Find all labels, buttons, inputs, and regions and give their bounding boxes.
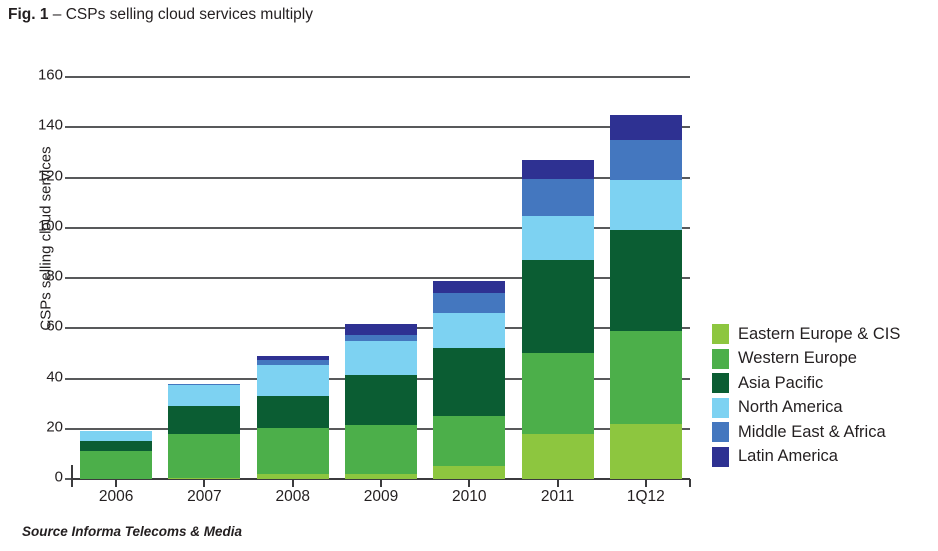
y-tick-label-100: 100 — [38, 217, 63, 234]
y-tick-label-140: 140 — [38, 117, 63, 134]
bar-segment[interactable] — [168, 385, 240, 406]
y-tick-mark-120 — [65, 177, 72, 179]
y-tick-mark-60 — [65, 327, 72, 329]
bar-segment[interactable] — [345, 335, 417, 341]
bar-segment[interactable] — [257, 360, 329, 365]
bar-group-2006[interactable] — [80, 77, 152, 479]
bar-segment[interactable] — [522, 260, 594, 353]
bar-segment[interactable] — [522, 434, 594, 479]
legend-label: Eastern Europe & CIS — [738, 325, 900, 344]
figure-number: Fig. 1 — [8, 6, 48, 23]
legend-swatch-icon — [712, 373, 729, 393]
bar-segment[interactable] — [345, 425, 417, 474]
y-tick-mark-140 — [65, 126, 72, 128]
bar-segment[interactable] — [433, 348, 505, 416]
y-tick-label-20: 20 — [46, 418, 63, 435]
legend-swatch-icon — [712, 349, 729, 369]
axis-origin-tick — [71, 465, 73, 479]
x-tick-label-2008: 2008 — [249, 488, 337, 506]
bar-segment[interactable] — [80, 441, 152, 451]
bar-segment[interactable] — [433, 281, 505, 294]
x-tick-mark-2008 — [292, 479, 294, 487]
x-axis-end-tick-0 — [71, 479, 73, 487]
legend-item-1[interactable]: Western Europe — [712, 347, 938, 372]
bar-segment[interactable] — [345, 375, 417, 425]
bar-segment[interactable] — [433, 466, 505, 479]
bar-segment[interactable] — [610, 424, 682, 479]
x-tick-label-1Q12: 1Q12 — [602, 488, 690, 506]
figure-title-dash: – — [48, 6, 65, 23]
x-tick-mark-2009 — [380, 479, 382, 487]
bar-segment[interactable] — [522, 179, 594, 217]
x-tick-mark-2010 — [468, 479, 470, 487]
bar-series-layer — [72, 77, 690, 479]
x-tick-mark-2011 — [557, 479, 559, 487]
bar-group-2007[interactable] — [168, 77, 240, 479]
chart-legend: Eastern Europe & CISWestern EuropeAsia P… — [712, 322, 938, 469]
bar-segment[interactable] — [80, 451, 152, 479]
bar-segment[interactable] — [522, 216, 594, 260]
legend-item-2[interactable]: Asia Pacific — [712, 371, 938, 396]
figure-title-text: CSPs selling cloud services multiply — [66, 6, 313, 23]
bar-group-2011[interactable] — [522, 77, 594, 479]
legend-swatch-icon — [712, 324, 729, 344]
bar-segment[interactable] — [257, 428, 329, 474]
y-tick-mark-20 — [65, 428, 72, 430]
y-tick-label-0: 0 — [55, 468, 63, 485]
x-tick-mark-2006 — [115, 479, 117, 487]
y-tick-label-60: 60 — [46, 318, 63, 335]
legend-label: Asia Pacific — [738, 374, 823, 393]
legend-item-0[interactable]: Eastern Europe & CIS — [712, 322, 938, 347]
legend-swatch-icon — [712, 422, 729, 442]
bar-segment[interactable] — [610, 230, 682, 331]
y-tick-label-160: 160 — [38, 66, 63, 83]
bar-segment[interactable] — [610, 115, 682, 140]
figure-title: Fig. 1 – CSPs selling cloud services mul… — [8, 6, 313, 24]
x-axis-end-tick-1 — [689, 479, 691, 487]
legend-item-4[interactable]: Middle East & Africa — [712, 420, 938, 445]
y-tick-label-80: 80 — [46, 267, 63, 284]
bar-segment[interactable] — [345, 341, 417, 375]
legend-label: North America — [738, 398, 843, 417]
bar-segment[interactable] — [433, 293, 505, 313]
x-tick-label-2009: 2009 — [337, 488, 425, 506]
bar-segment[interactable] — [257, 356, 329, 360]
bar-segment[interactable] — [522, 160, 594, 179]
bar-segment[interactable] — [610, 331, 682, 424]
legend-swatch-icon — [712, 398, 729, 418]
bar-group-2010[interactable] — [433, 77, 505, 479]
bar-group-2008[interactable] — [257, 77, 329, 479]
legend-label: Latin America — [738, 447, 838, 466]
plot-area: 020406080100120140160 — [72, 77, 690, 479]
bar-segment[interactable] — [610, 140, 682, 180]
bar-segment[interactable] — [80, 431, 152, 441]
legend-item-5[interactable]: Latin America — [712, 445, 938, 470]
x-tick-label-2006: 2006 — [72, 488, 160, 506]
bar-segment[interactable] — [345, 324, 417, 334]
y-tick-label-120: 120 — [38, 167, 63, 184]
bar-segment[interactable] — [168, 406, 240, 434]
x-tick-label-2011: 2011 — [513, 488, 601, 506]
y-tick-mark-40 — [65, 378, 72, 380]
bar-segment[interactable] — [433, 313, 505, 348]
y-tick-mark-80 — [65, 277, 72, 279]
bar-group-2009[interactable] — [345, 77, 417, 479]
x-tick-mark-2007 — [203, 479, 205, 487]
x-tick-mark-1Q12 — [645, 479, 647, 487]
y-tick-mark-160 — [65, 76, 72, 78]
legend-label: Middle East & Africa — [738, 423, 886, 442]
bar-segment[interactable] — [257, 396, 329, 427]
legend-label: Western Europe — [738, 349, 857, 368]
legend-item-3[interactable]: North America — [712, 396, 938, 421]
bar-segment[interactable] — [610, 180, 682, 230]
source-note: Source Informa Telecoms & Media — [22, 524, 242, 539]
y-tick-mark-100 — [65, 227, 72, 229]
bar-segment[interactable] — [168, 434, 240, 478]
legend-swatch-icon — [712, 447, 729, 467]
x-tick-label-2010: 2010 — [425, 488, 513, 506]
bar-segment[interactable] — [433, 416, 505, 466]
bar-segment[interactable] — [257, 365, 329, 396]
bar-segment[interactable] — [522, 353, 594, 433]
bar-segment[interactable] — [168, 384, 240, 385]
bar-group-1Q12[interactable] — [610, 77, 682, 479]
y-tick-label-40: 40 — [46, 368, 63, 385]
x-tick-label-2007: 2007 — [160, 488, 248, 506]
